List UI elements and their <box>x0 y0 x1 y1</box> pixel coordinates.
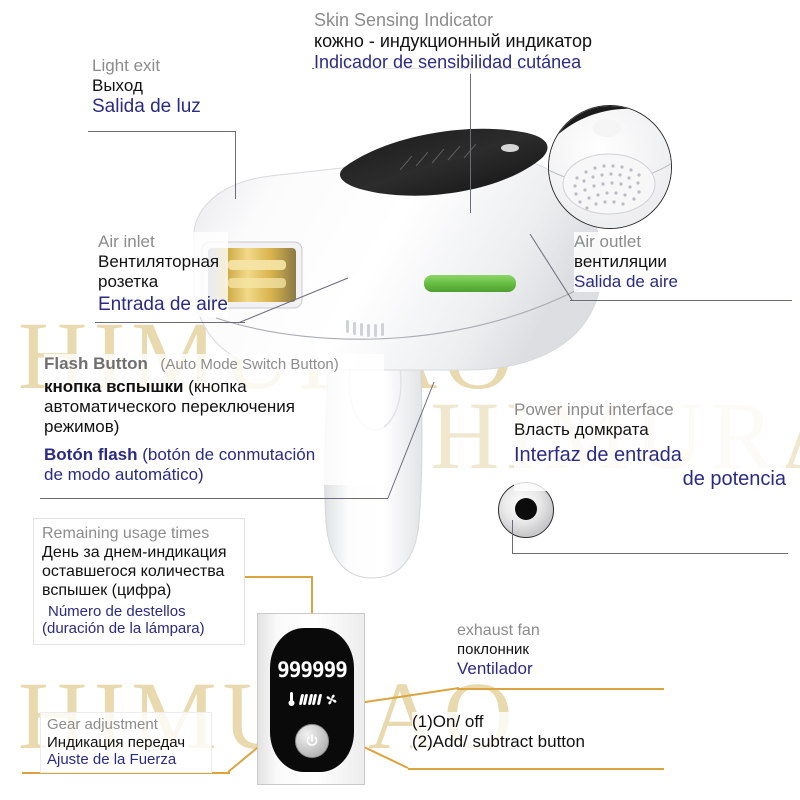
gear-adjustment-label-ru: Индикация передач <box>47 734 205 752</box>
air-outlet-inset-svg <box>549 106 672 229</box>
air-inlet-label-ru-1: Вентиляторная <box>98 252 228 272</box>
control-panel-inset: 999999 <box>257 613 365 785</box>
remaining-usage-label-ru-3: вспышек (цифра) <box>42 582 236 601</box>
power-input-label-en: Power input interface <box>514 400 786 420</box>
callout-air-outlet: Air outlet вентиляции Salida de aire <box>574 232 678 292</box>
remaining-usage-label-es-1: Número de destellos <box>42 603 236 621</box>
flash-button-label-ru: кнопка вспышки <box>44 377 184 396</box>
thermometer-icon <box>287 691 296 707</box>
top-shell-highlight <box>501 144 519 152</box>
gear-adjustment-label-en: Gear adjustment <box>47 716 205 734</box>
product-diagram: HIMURAO HIMURAO HIMURAO <box>0 0 800 800</box>
flash-button-label-en-paren: (Auto Mode Switch Button) <box>160 356 338 373</box>
power-input-label-es-2: de potencia <box>514 468 786 492</box>
flash-counter-display: 999999 <box>270 658 354 682</box>
callout-flash-button: Flash Button (Auto Mode Switch Button) к… <box>44 354 384 485</box>
flash-button-label-ru-2: автоматического переключения <box>44 397 384 417</box>
power-input-label-ru: Власть домкрата <box>514 420 786 440</box>
callout-remaining-usage: Remaining usage times День за днем-индик… <box>33 518 245 645</box>
leader-light-exit-rule <box>88 131 236 132</box>
power-icon <box>304 733 320 749</box>
remaining-usage-label-ru-1: День за днем-индикация <box>42 544 236 563</box>
power-input-label-es-1: Interfaz de entrada <box>514 444 786 468</box>
leader-flash-button-diagonal <box>386 380 446 500</box>
remaining-usage-label-en: Remaining usage times <box>42 525 236 544</box>
remaining-usage-label-ru-2: оставшегося количества <box>42 563 236 582</box>
power-jack-hole <box>515 498 537 520</box>
buttons-note-line-2: (2)Add/ subtract button <box>412 732 585 752</box>
leader-skin-sensor-stem <box>470 68 471 213</box>
leader-fan-rule <box>457 688 664 690</box>
gear-adjustment-label-es: Ajuste de la Fuerza <box>47 751 205 769</box>
exhaust-fan-label-es: Ventilador <box>457 659 540 679</box>
flash-button-label-es: Botón flash <box>44 445 138 464</box>
light-exit-label-en: Light exit <box>92 56 201 76</box>
power-button[interactable] <box>295 724 329 758</box>
callout-gear-adjustment: Gear adjustment Индикация передач Ajuste… <box>40 712 212 773</box>
callout-skin-sensor: Skin Sensing Indicator кожно - индукцион… <box>314 10 592 74</box>
callout-air-inlet: Air inlet Вентиляторная розетка Entrada … <box>98 232 228 317</box>
gear-level-bars <box>300 694 321 705</box>
buttons-note-line-1: (1)On/ off <box>412 712 585 732</box>
control-panel-face: 999999 <box>270 628 354 772</box>
skin-sensor-label-es: Indicador de sensibilidad cutánea <box>314 52 592 73</box>
air-outlet-grille <box>563 154 655 214</box>
leader-air-inlet-rule <box>95 322 245 323</box>
air-outlet-label-en: Air outlet <box>574 232 678 252</box>
remaining-usage-label-es-2: (duración de la lámpara) <box>42 620 236 638</box>
ipl-device-illustration <box>150 70 620 580</box>
flash-button-label-es-2: de modo automático) <box>44 465 384 485</box>
leader-power-input-stem <box>512 520 513 553</box>
leader-air-inlet-diagonal <box>238 276 358 326</box>
flash-button-label-ru-3: режимов) <box>44 417 384 437</box>
flash-button-label-en: Flash Button <box>44 354 148 373</box>
callout-power-input: Power input interface Власть домкрата In… <box>514 400 786 491</box>
callout-exhaust-fan: exhaust fan поклонник Ventilador <box>457 622 540 679</box>
panel-indicator-row <box>270 691 354 707</box>
leader-buttons-rule <box>408 768 664 770</box>
leader-usage-rule <box>245 576 313 578</box>
skin-sensor-label-ru: кожно - индукционный индикатор <box>314 31 592 52</box>
leader-air-outlet-rule <box>570 300 792 301</box>
leader-flash-button-rule <box>40 498 388 499</box>
flash-button-label-ru-rest: (кнопка <box>184 377 247 396</box>
air-outlet-label-es: Salida de aire <box>574 272 678 292</box>
exhaust-fan-label-ru: поклонник <box>457 641 540 659</box>
leader-light-exit-stem <box>235 131 236 199</box>
air-inlet-label-ru-2: розетка <box>98 272 228 292</box>
flash-button-label-es-rest: (botón de conmutación <box>138 445 316 464</box>
callout-light-exit: Light exit Выход Salida de luz <box>92 56 201 119</box>
light-exit-label-es: Salida de luz <box>92 96 201 118</box>
light-exit-label-ru: Выход <box>92 76 201 96</box>
air-outlet-label-ru: вентиляции <box>574 252 678 272</box>
skin-sensing-strip <box>424 275 516 292</box>
skin-sensor-label-en: Skin Sensing Indicator <box>314 10 592 31</box>
leader-power-input-rule <box>512 553 788 554</box>
inset-highlight <box>593 119 621 137</box>
exhaust-fan-label-en: exhaust fan <box>457 622 540 641</box>
air-inlet-label-en: Air inlet <box>98 232 228 252</box>
fan-icon <box>325 693 338 706</box>
air-inlet-label-es: Entrada de aire <box>98 294 228 316</box>
callout-buttons-note: (1)On/ off (2)Add/ subtract button <box>412 712 585 752</box>
air-outlet-inset <box>548 105 672 229</box>
